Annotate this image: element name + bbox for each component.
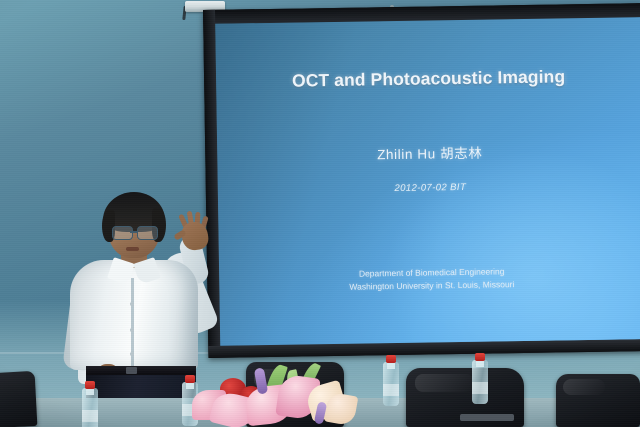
chair-tag bbox=[460, 414, 514, 421]
presenter-shirt-button bbox=[130, 352, 134, 356]
bottle-neck bbox=[387, 362, 395, 369]
bottle-cap-icon bbox=[185, 375, 195, 383]
presenter-shirt bbox=[70, 260, 198, 370]
water-bottle bbox=[383, 362, 399, 406]
slide-date-venue: 2012-07-02 BIT bbox=[218, 179, 640, 197]
chair-back-left bbox=[0, 371, 37, 427]
presenter-mouth bbox=[126, 247, 139, 251]
projection-screen-frame: OCT and Photoacoustic Imaging Zhilin Hu … bbox=[203, 3, 640, 358]
presenter-belt-buckle bbox=[126, 367, 137, 374]
presenter-shirt-button bbox=[130, 302, 134, 306]
flower-bouquet bbox=[196, 360, 356, 427]
bottle-label bbox=[383, 384, 399, 396]
projected-slide: OCT and Photoacoustic Imaging Zhilin Hu … bbox=[215, 17, 640, 346]
slide-author: Zhilin Hu 胡志林 bbox=[217, 139, 640, 166]
chair-highlight bbox=[415, 374, 474, 392]
projector-hotspot bbox=[382, 148, 640, 345]
chair-highlight bbox=[563, 379, 605, 395]
bottle-cap-icon bbox=[386, 355, 396, 363]
bottle-cap-icon bbox=[85, 381, 95, 389]
water-bottle bbox=[82, 388, 98, 427]
slide-affiliation: Department of Biomedical Engineering Was… bbox=[219, 263, 640, 295]
presenter-shirt-button bbox=[130, 328, 134, 332]
presenter-belt bbox=[86, 366, 196, 375]
bottle-neck bbox=[86, 388, 94, 395]
glasses-lens-right-icon bbox=[137, 226, 158, 240]
glasses-lens-left-icon bbox=[112, 226, 133, 240]
bottle-neck bbox=[186, 382, 194, 389]
bottle-neck bbox=[476, 360, 484, 367]
bottle-cap-icon bbox=[475, 353, 485, 361]
presenter-shirt-placket bbox=[131, 278, 134, 370]
presentation-photo: OCT and Photoacoustic Imaging Zhilin Hu … bbox=[0, 0, 640, 427]
chair-back-far-right bbox=[556, 374, 640, 427]
slide-title: OCT and Photoacoustic Imaging bbox=[216, 65, 640, 93]
bottle-label bbox=[82, 410, 98, 422]
chair-back-right bbox=[406, 368, 524, 427]
water-bottle bbox=[472, 360, 488, 404]
glasses-bridge-icon bbox=[130, 231, 138, 233]
bottle-label bbox=[472, 382, 488, 394]
